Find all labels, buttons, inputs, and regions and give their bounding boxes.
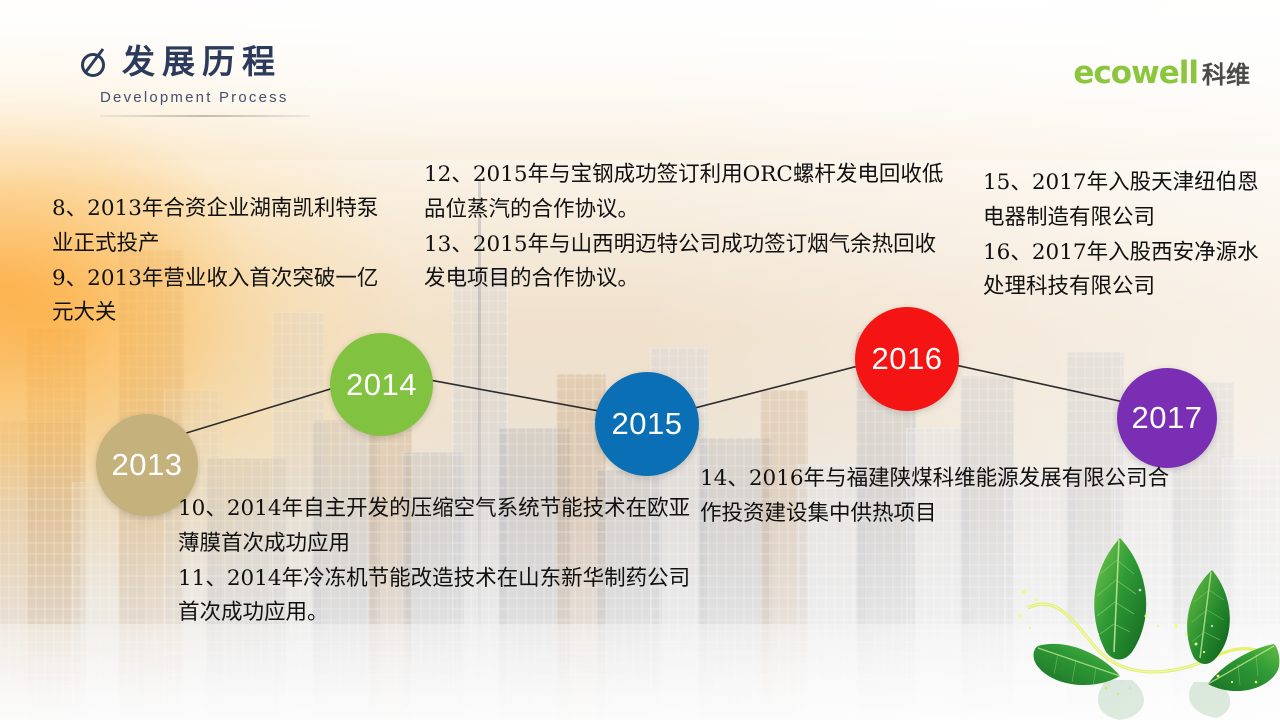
- timeline-node-2016[interactable]: 2016: [855, 307, 959, 411]
- milestone-text-left-top: 8、2013年合资企业湖南凯利特泵业正式投产 9、2013年营业收入首次突破一亿…: [52, 192, 382, 331]
- green-leaves-icon: [980, 530, 1280, 720]
- milestone-text-right-bottom: 14、2016年与福建陕煤科维能源发展有限公司合作投资建设集中供热项目: [700, 462, 1170, 532]
- timeline-node-label: 2016: [872, 341, 943, 377]
- timeline-node-label: 2015: [612, 406, 683, 442]
- timeline-node-2015[interactable]: 2015: [595, 372, 699, 476]
- timeline-node-label: 2014: [346, 367, 417, 403]
- milestone-text-right-top: 15、2017年入股天津纽伯恩电器制造有限公司 16、2017年入股西安净源水处…: [983, 166, 1273, 305]
- slide-canvas: 发展历程 Development Process ecowell 科维 2013…: [0, 0, 1280, 720]
- milestone-text-left-bottom: 10、2014年自主开发的压缩空气系统节能技术在欧亚薄膜首次成功应用 11、20…: [178, 492, 698, 631]
- milestone-text-center-top: 12、2015年与宝钢成功签订利用ORC螺杆发电回收低品位蒸汽的合作协议。 13…: [424, 158, 944, 297]
- timeline-node-label: 2017: [1132, 400, 1203, 436]
- timeline-node-label: 2013: [112, 447, 183, 483]
- timeline-node-2014[interactable]: 2014: [330, 333, 433, 436]
- timeline-node-2017[interactable]: 2017: [1117, 368, 1217, 468]
